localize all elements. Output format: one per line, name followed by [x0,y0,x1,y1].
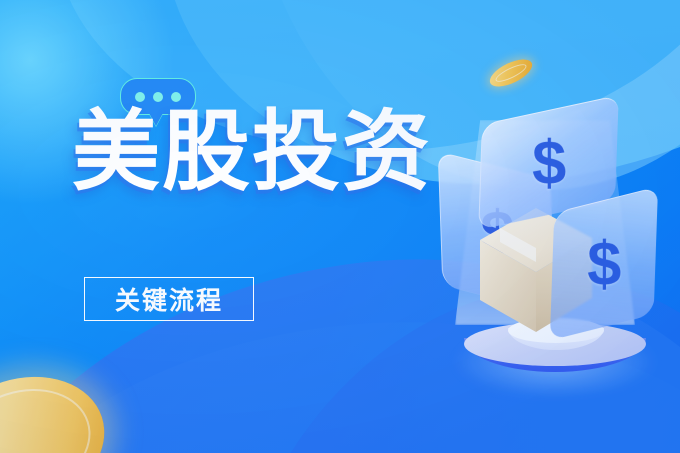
poster-canvas: $ $ $ [0,0,680,453]
speech-bubble-dot-2 [153,92,163,102]
speech-bubble-dot-1 [135,92,145,102]
dollar-sign-icon-right: $ [587,228,621,300]
page-title: 美股投资 [72,108,432,196]
speech-bubble-dot-3 [171,92,181,102]
subtitle-badge-label: 关键流程 [115,281,223,317]
dollar-sign-icon-top: $ [532,127,566,199]
subtitle-badge: 关键流程 [84,277,254,321]
